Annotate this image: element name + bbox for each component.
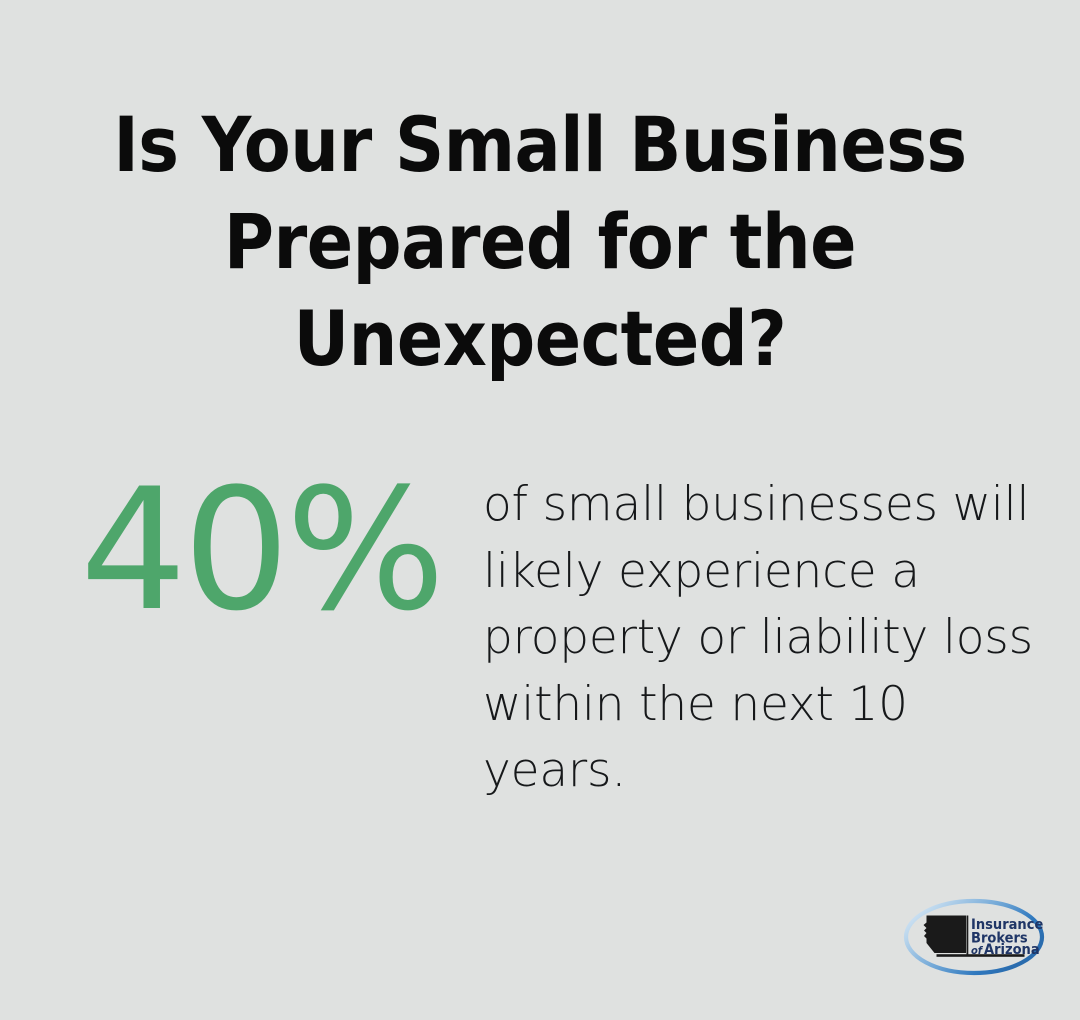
statistic-description-line-5: years. [483,738,1003,805]
statistic-description-line-4: within the next 10 [483,672,1003,739]
logo-divider [967,916,969,955]
statistic-percentage: 40% [80,466,460,634]
statistic-description: of small businesses will likely experien… [483,472,1003,805]
statistic-block: 40% of small businesses will likely expe… [80,466,1010,816]
logo-text-of: of [971,944,984,957]
page-title-line-3: Unexpected? [90,290,990,387]
statistic-description-line-1: of small businesses will [483,472,1003,539]
infographic-canvas: Is Your Small Business Prepared for the … [0,0,1080,1020]
arizona-state-icon [924,916,967,954]
logo-text-arizona: Arizona [984,942,1040,958]
brand-logo: Insurance Brokers of Arizona [900,897,1052,981]
page-title-line-1: Is Your Small Business [90,96,990,193]
statistic-description-line-3: property or liability loss [483,605,1003,672]
page-title-line-2: Prepared for the [90,193,990,290]
statistic-description-line-2: likely experience a [483,539,1003,606]
page-title: Is Your Small Business Prepared for the … [90,96,990,387]
